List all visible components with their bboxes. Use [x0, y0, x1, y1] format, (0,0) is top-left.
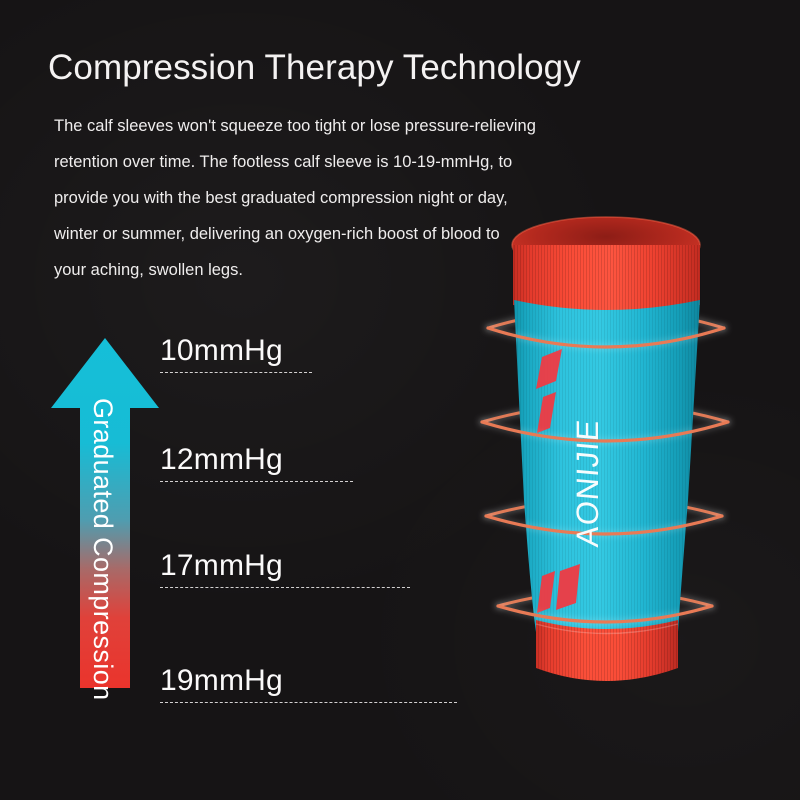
product-brand-wordmark: AONIJIE	[568, 366, 608, 599]
page-title: Compression Therapy Technology	[48, 47, 581, 89]
product-infographic-page: Compression Therapy Technology The calf …	[0, 0, 800, 800]
pressure-row-19: 19mmHg	[160, 664, 457, 703]
product-image-calf-sleeve	[430, 200, 800, 720]
body-line: retention over time. The footless calf s…	[54, 144, 594, 180]
pressure-value: 17mmHg	[160, 549, 410, 583]
pressure-value: 19mmHg	[160, 664, 457, 698]
pressure-row-17: 17mmHg	[160, 549, 410, 588]
pressure-dashed-line	[160, 372, 312, 373]
pressure-value: 12mmHg	[160, 443, 353, 477]
body-line: The calf sleeves won't squeeze too tight…	[54, 108, 594, 144]
pressure-dashed-line	[160, 702, 457, 703]
pressure-dashed-line	[160, 587, 410, 588]
pressure-value: 10mmHg	[160, 334, 312, 368]
arrow-label: Graduated Compression	[78, 398, 128, 690]
pressure-row-10: 10mmHg	[160, 334, 312, 373]
pressure-dashed-line	[160, 481, 353, 482]
pressure-row-12: 12mmHg	[160, 443, 353, 482]
